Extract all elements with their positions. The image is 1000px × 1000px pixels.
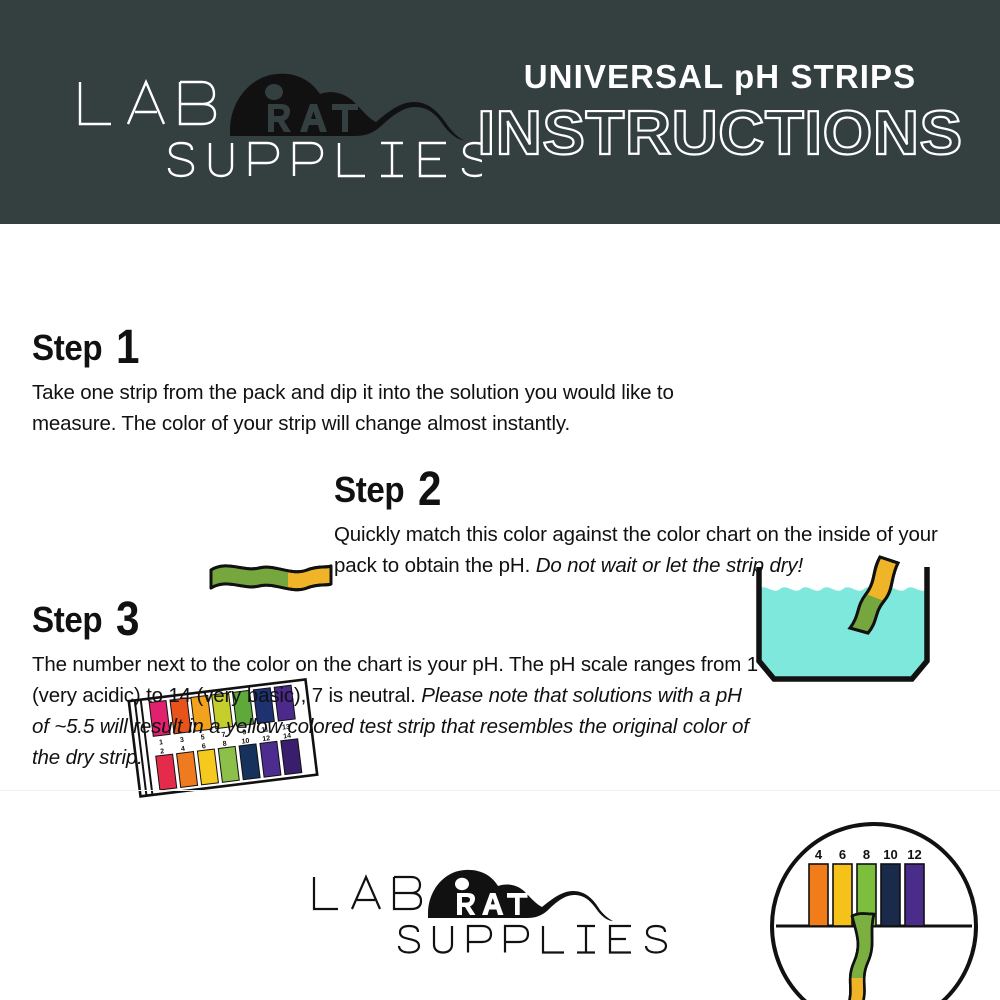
svg-text:4: 4 [815,847,823,862]
svg-text:10: 10 [883,847,897,862]
step-3-number: 3 [116,596,139,644]
step-2-text-italic: Do not wait or let the strip dry! [536,554,803,577]
step-2-label: Step [334,472,404,508]
logo-word-supplies [169,143,482,176]
brand-logo-footer [300,855,700,965]
footer-logo-rat-mark [428,870,613,921]
step-1-label: Step [32,330,102,366]
step-3-block: Step3 The number next to the color on th… [32,596,762,774]
footer-divider [0,790,1000,791]
footer-logo-word-supplies [399,926,666,953]
step-2-number: 2 [418,466,441,514]
step-2-text: Quickly match this color against the col… [334,519,984,581]
page-title-line1: UNIVERSAL pH STRIPS [470,58,970,96]
step-2-block: Step2 Quickly match this color against t… [334,466,984,581]
step-3-text: The number next to the color on the char… [32,649,762,774]
step-3-label: Step [32,602,102,638]
step-1-number: 1 [116,324,139,372]
brand-logo-header: ™ [62,52,482,192]
svg-text:12: 12 [907,847,921,862]
step-3-heading: Step3 [32,596,762,644]
page-title-line2: INSTRUCTIONS [463,98,978,169]
instructions-page: ™ UNIVERSAL pH STRIPS INSTRUCTIONS Step1… [0,0,1000,1000]
step-1-text-normal: Take one strip from the pack and dip it … [32,381,674,435]
logo-word-lab [80,82,215,124]
header-title-block: UNIVERSAL pH STRIPS INSTRUCTIONS [470,58,970,169]
footer-logo-word-lab [314,877,421,909]
beaker-liquid [759,587,927,679]
comparison-circle-illustration: 4 6 8 10 12 [764,816,984,1000]
step-1-text: Take one strip from the pack and dip it … [32,377,732,439]
svg-text:6: 6 [839,847,846,862]
step-1-block: Step1 Take one strip from the pack and d… [32,324,732,439]
svg-text:8: 8 [863,847,870,862]
logo-rat-mark [230,74,464,140]
step-2-heading: Step2 [334,466,984,514]
step-1-heading: Step1 [32,324,732,372]
page-header: ™ UNIVERSAL pH STRIPS INSTRUCTIONS [0,0,1000,224]
